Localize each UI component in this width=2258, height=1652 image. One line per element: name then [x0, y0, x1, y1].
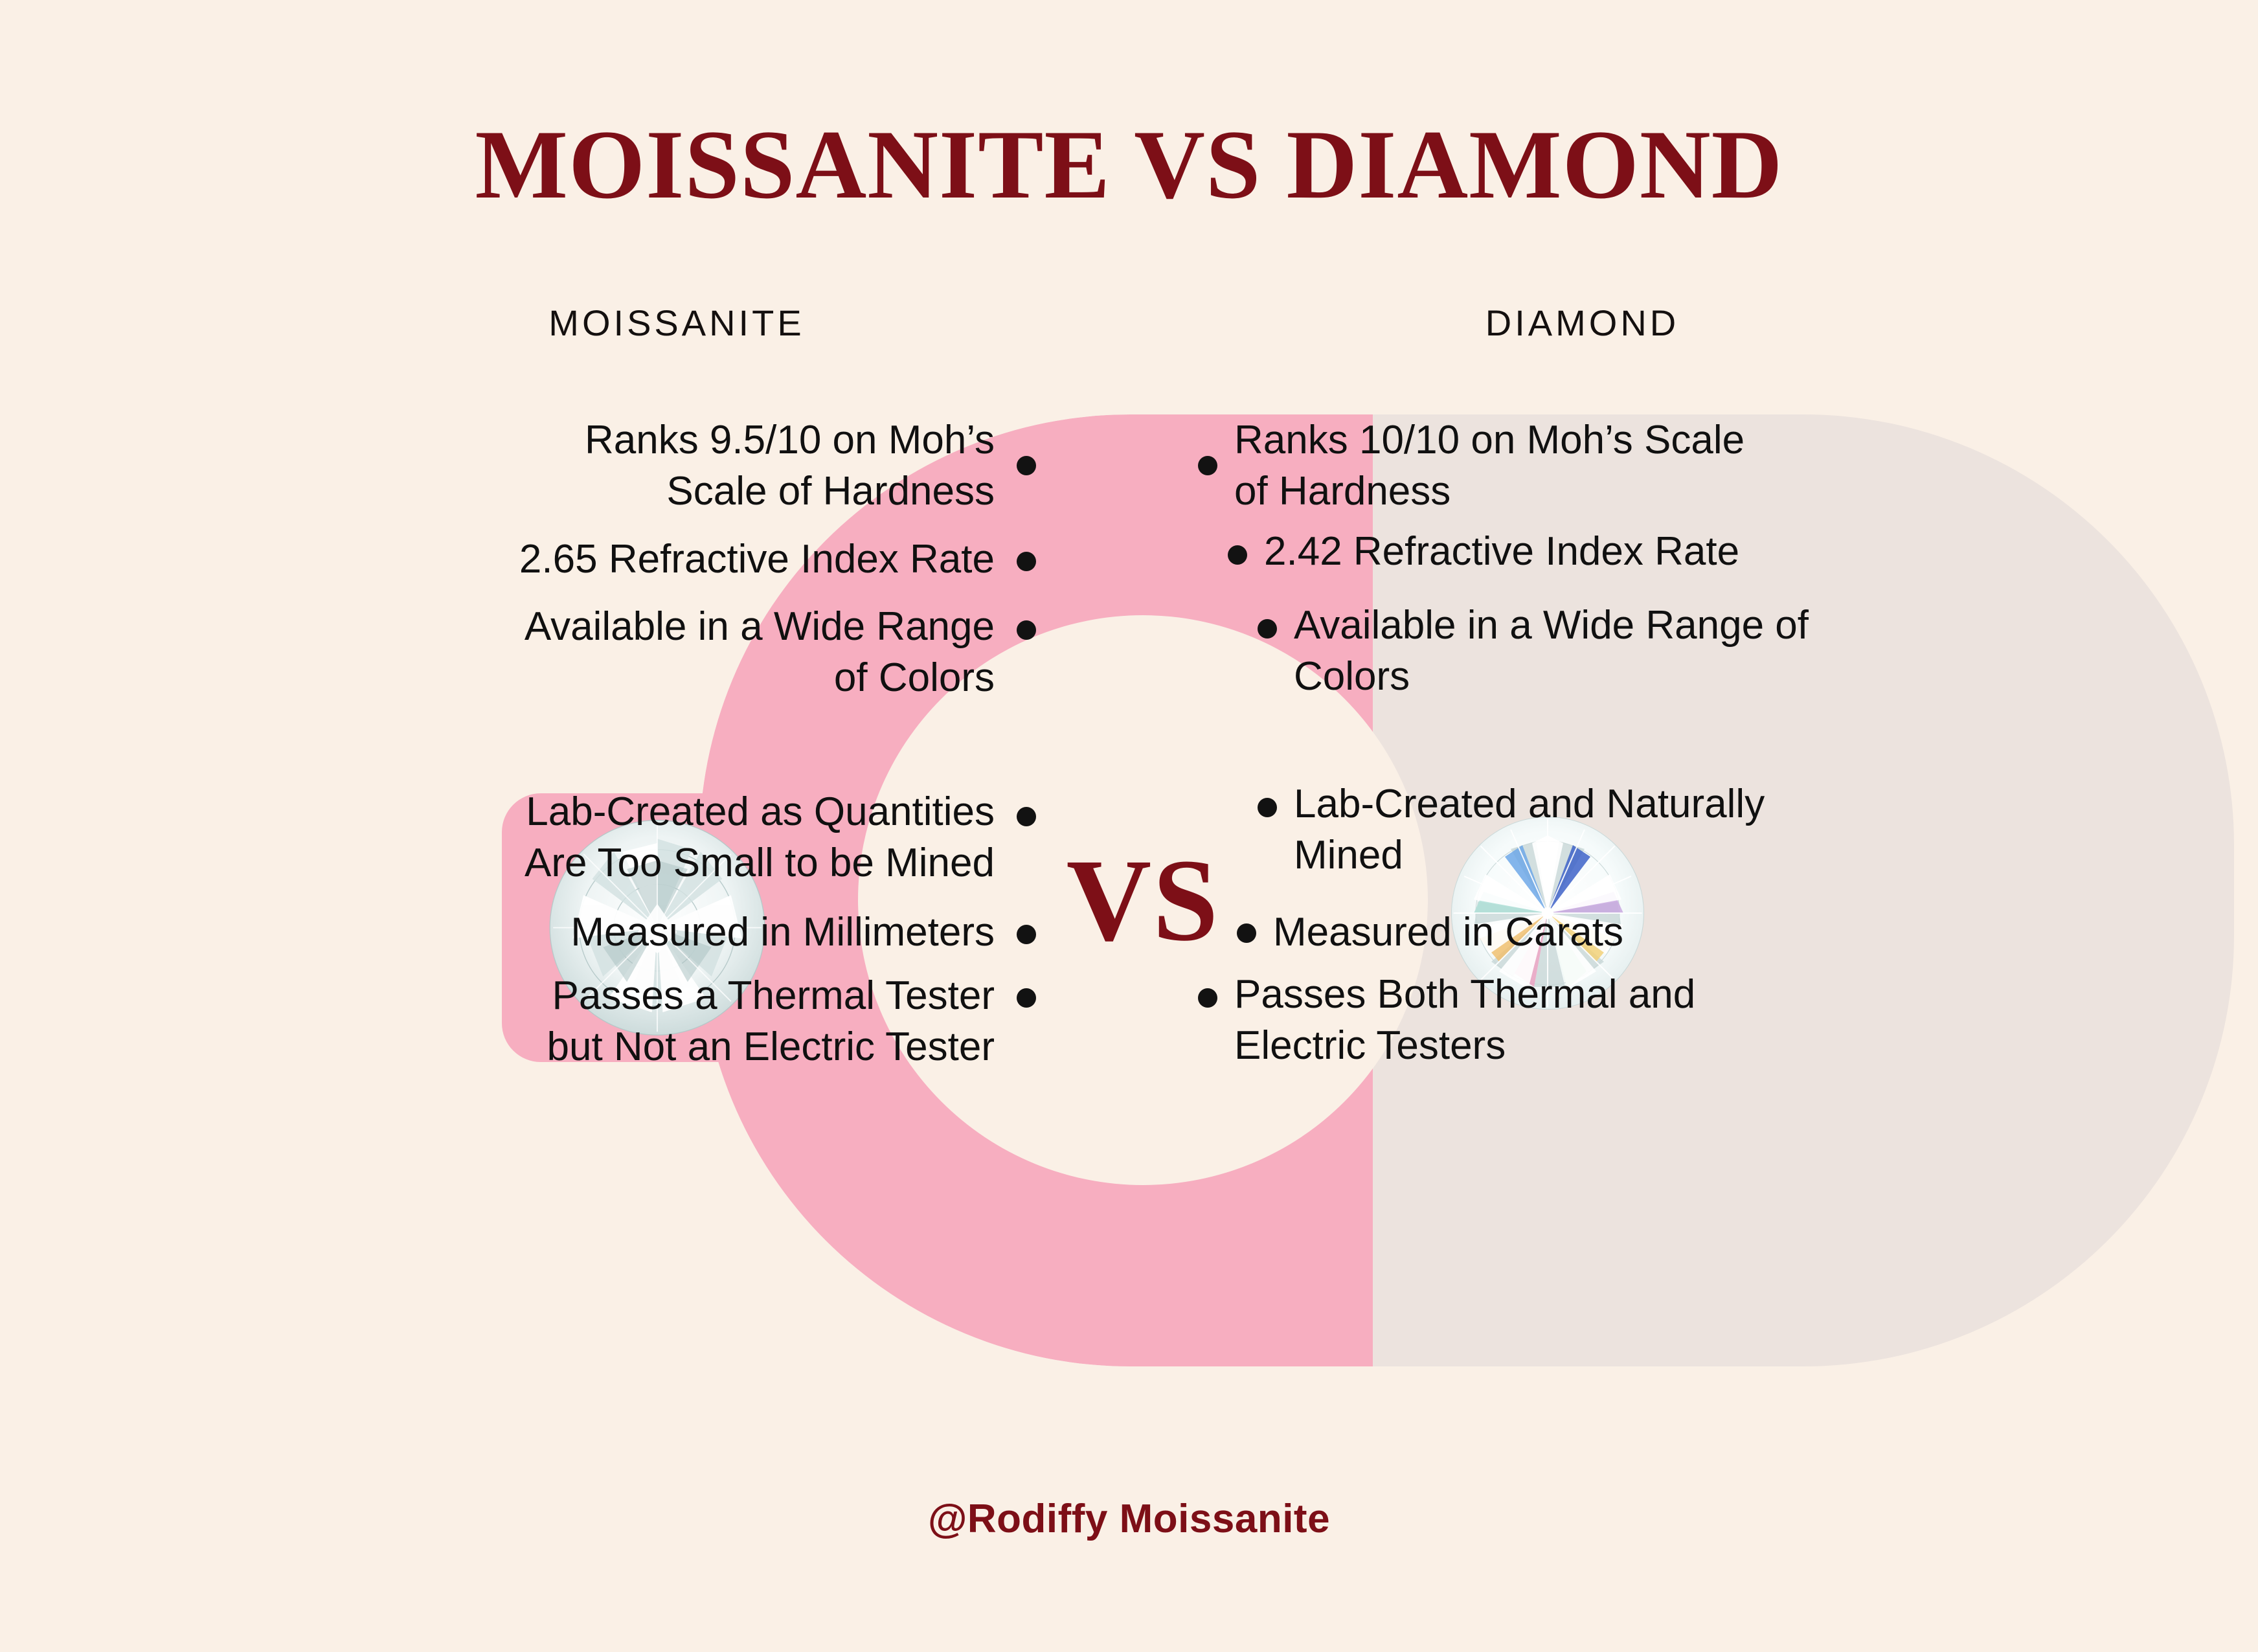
bullet-text: Lab-Created as Quantities Are Too Small …	[525, 786, 995, 889]
bullet-text: 2.42 Refractive Index Rate	[1264, 526, 1739, 577]
bullet-text: 2.65 Refractive Index Rate	[519, 534, 995, 585]
list-item: Ranks 10/10 on Moh’s Scale of Hardness	[1198, 414, 2143, 517]
list-item: Passes Both Thermal and Electric Testers	[1198, 969, 2143, 1072]
bullet-text: Available in a Wide Range of Colors	[1294, 600, 1809, 703]
bullet-text: Ranks 10/10 on Moh’s Scale of Hardness	[1234, 414, 1744, 517]
bullet-dot-icon	[1198, 456, 1217, 475]
bullet-text: Lab-Created and Naturally Mined	[1294, 778, 1765, 881]
list-item: Lab-Created as Quantities Are Too Small …	[117, 786, 1036, 889]
bullet-text: Measured in Millimeters	[570, 907, 995, 958]
bullet-text: Available in a Wide Range of Colors	[525, 601, 995, 704]
bullet-dot-icon	[1017, 988, 1036, 1008]
bullet-dot-icon	[1017, 552, 1036, 571]
bullet-dot-icon	[1228, 545, 1247, 565]
list-item: Measured in Millimeters	[117, 907, 1036, 958]
bullet-dot-icon	[1198, 988, 1217, 1008]
list-item: Lab-Created and Naturally Mined	[1198, 778, 2143, 881]
bullet-dot-icon	[1237, 923, 1256, 943]
bullet-text: Passes Both Thermal and Electric Testers	[1234, 969, 1695, 1072]
list-item: Ranks 9.5/10 on Moh’s Scale of Hardness	[117, 414, 1036, 517]
page-title: MOISSANITE VS DIAMOND	[0, 115, 2258, 214]
infographic-canvas: MOISSANITE VS DIAMOND MOISSANITE DIAMOND…	[0, 0, 2258, 1652]
column-header-diamond: DIAMOND	[907, 302, 2258, 344]
bullet-dot-icon	[1017, 620, 1036, 640]
list-item: 2.42 Refractive Index Rate	[1198, 526, 2143, 577]
bullet-dot-icon	[1017, 925, 1036, 944]
brand-handle: @Rodiffy Moissanite	[0, 1496, 2258, 1542]
bullet-text: Passes a Thermal Tester but Not an Elect…	[547, 970, 995, 1073]
bullet-dot-icon	[1258, 798, 1277, 817]
list-item: Available in a Wide Range of Colors	[1198, 600, 2143, 703]
list-item: Available in a Wide Range of Colors	[117, 601, 1036, 704]
bullet-dot-icon	[1017, 456, 1036, 475]
bullet-dot-icon	[1258, 619, 1277, 639]
bullet-text: Measured in Carats	[1273, 907, 1623, 958]
list-item: 2.65 Refractive Index Rate	[117, 534, 1036, 585]
bullet-text: Ranks 9.5/10 on Moh’s Scale of Hardness	[585, 414, 995, 517]
bullet-dot-icon	[1017, 807, 1036, 826]
list-item: Measured in Carats	[1198, 907, 2143, 958]
list-item: Passes a Thermal Tester but Not an Elect…	[117, 970, 1036, 1073]
